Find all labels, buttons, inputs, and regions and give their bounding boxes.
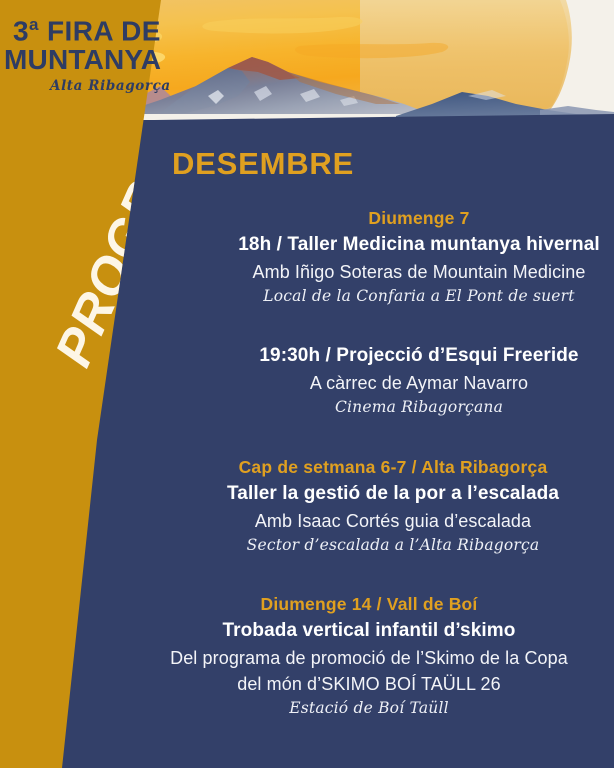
event-venue: Local de la Confaria a El Pont de suert: [112, 285, 614, 308]
event-venue: Cinema Ribagorçana: [112, 396, 614, 419]
event-subtitle: Amb Iñigo Soteras de Mountain Medicine: [112, 259, 614, 285]
event-subtitle: A càrrec de Aymar Navarro: [112, 370, 614, 396]
event-title: Taller la gestió de la por a l’escalada: [86, 480, 614, 508]
event-item: 19:30h / Projecció d’Esqui Freeride A cà…: [0, 342, 614, 419]
event-item: Diumenge 7 18h / Taller Medicina muntany…: [0, 206, 614, 308]
event-item: Cap de setmana 6-7 / Alta Ribagorça Tall…: [0, 455, 614, 557]
poster-root: PROGRAMA 3a FIRA DE MUNTANYA Alta Ribago…: [0, 0, 614, 768]
event-subtitle: Del programa de promoció de l’Skimo de l…: [62, 645, 614, 671]
event-date: Diumenge 7: [112, 206, 614, 231]
event-subtitle: Amb Isaac Cortés guia d’escalada: [86, 508, 614, 534]
event-venue: Sector d’escalada a l’Alta Ribagorça: [86, 534, 614, 557]
page-title: DESEMBRE: [172, 146, 354, 182]
event-title: 18h / Taller Medicina muntanya hivernal: [112, 231, 614, 259]
event-title: Trobada vertical infantil d’skimo: [62, 617, 614, 645]
event-date: Diumenge 14 / Vall de Boí: [62, 592, 614, 617]
event-venue: Estació de Boí Taüll: [62, 697, 614, 720]
event-title: 19:30h / Projecció d’Esqui Freeride: [112, 342, 614, 370]
program-content: DESEMBRE Diumenge 7 18h / Taller Medicin…: [0, 0, 614, 768]
event-item: Diumenge 14 / Vall de Boí Trobada vertic…: [0, 592, 614, 720]
event-date: Cap de setmana 6-7 / Alta Ribagorça: [86, 455, 614, 480]
event-subtitle-2: del món d’SKIMO BOÍ TAÜLL 26: [62, 671, 614, 697]
